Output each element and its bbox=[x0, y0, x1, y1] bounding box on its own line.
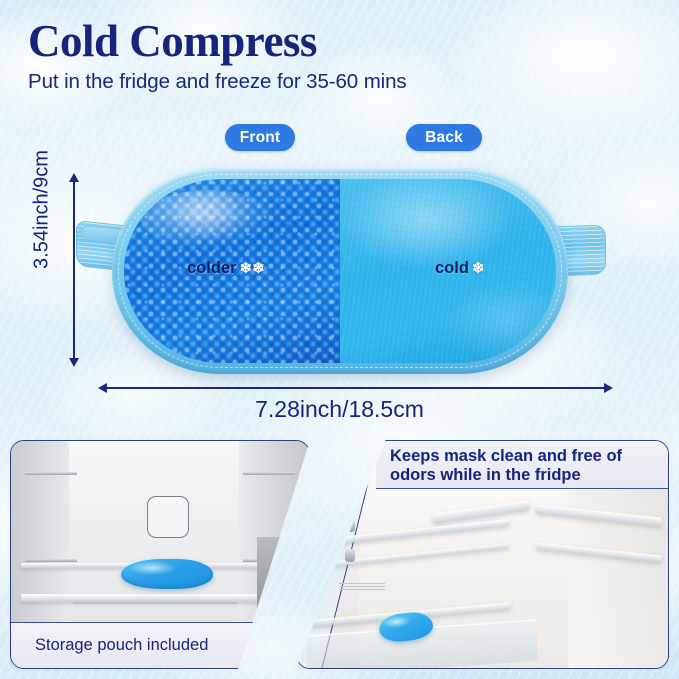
dimension-arrow-left bbox=[98, 383, 107, 393]
infographic-canvas: Cold Compress Put in the fridge and free… bbox=[0, 0, 679, 679]
dimension-line-vertical bbox=[73, 178, 75, 362]
dimension-line-horizontal bbox=[103, 387, 609, 389]
fridge-shelf-rail bbox=[25, 559, 77, 562]
fridge-shelf-edge bbox=[73, 602, 237, 604]
fridge-shelf-knob bbox=[345, 549, 355, 562]
badge-back: Back bbox=[406, 124, 482, 151]
header-block: Cold Compress Put in the fridge and free… bbox=[28, 17, 407, 94]
dimension-width-label: 7.28inch/18.5cm bbox=[0, 396, 679, 423]
dimension-arrow-right bbox=[604, 383, 613, 393]
label-cold-text: cold bbox=[435, 259, 469, 278]
badge-front: Front bbox=[225, 124, 295, 151]
caption-odor-free-line-1: Keeps mask clean and free of bbox=[390, 447, 622, 466]
caption-odor-free-line-2: odors while in the fridpe bbox=[390, 466, 622, 485]
snowflake-icon-double: ❄❄ bbox=[240, 261, 265, 276]
blue-gel-mask-on-shelf bbox=[121, 559, 213, 589]
dimension-height-label: 3.54inch/9cm bbox=[31, 135, 54, 285]
mask-body bbox=[112, 168, 568, 374]
fridge-vent-panel bbox=[147, 496, 189, 538]
fridge-shelf-rail bbox=[25, 472, 77, 475]
snowflake-icon-single: ❄ bbox=[472, 261, 485, 276]
gel-highlight-gloss bbox=[141, 190, 275, 249]
page-title: Cold Compress bbox=[28, 17, 407, 66]
dimension-arrow-up bbox=[69, 173, 79, 182]
label-colder: colder ❄❄ bbox=[187, 259, 265, 278]
caption-odor-free: Keeps mask clean and free of odors while… bbox=[376, 441, 668, 489]
fridge-shelf-rail bbox=[243, 472, 295, 475]
fridge-wall-vent-slots bbox=[339, 583, 385, 591]
page-subtitle: Put in the fridge and freeze for 35-60 m… bbox=[28, 70, 407, 94]
label-cold: cold ❄ bbox=[435, 259, 485, 278]
dimension-arrow-down bbox=[69, 358, 79, 367]
product-image-eye-mask bbox=[72, 168, 608, 376]
label-colder-text: colder bbox=[187, 259, 237, 278]
